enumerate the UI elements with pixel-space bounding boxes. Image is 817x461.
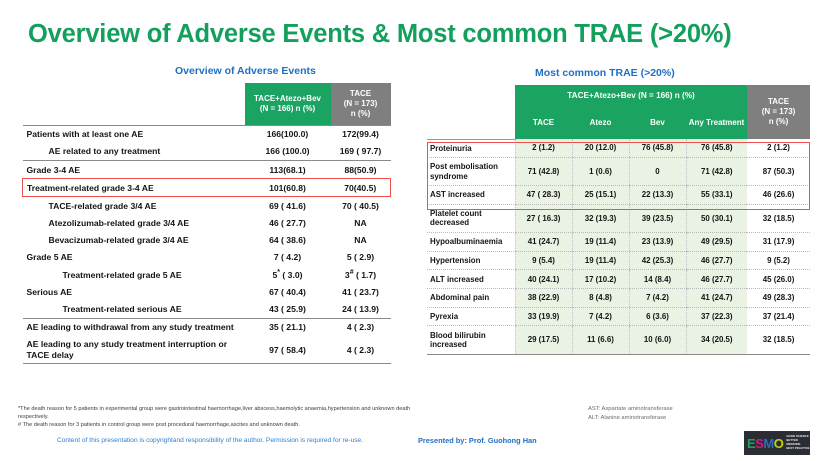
cell-tace: 41 (24.7) [515,232,572,251]
cell-atezo: 20 (12.0) [572,139,629,158]
row-label: Grade 3-4 AE [23,161,245,179]
table-row: Hypertension9 (5.4)19 (11.4)42 (25.3)46 … [427,251,810,270]
table-header: TACE+Atezo+Bev (N = 166) n (%) TACE (N =… [427,85,810,139]
esmo-letter-e: E [747,436,755,451]
cell-tace: 5 ( 2.9) [331,249,391,266]
table-row: Proteinuria2 (1.2)20 (12.0)76 (45.8)76 (… [427,139,810,158]
row-label: Hypoalbuminaemia [427,232,515,251]
table-row: Blood bilirubin increased29 (17.5)11 (6.… [427,326,810,354]
row-label: Post embolisation syndrome [427,158,515,186]
table-row: Patients with at least one AE166(100.0)1… [23,126,391,144]
cell-tace: 3# ( 1.7) [331,266,391,284]
cell-tace: 9 (5.4) [515,251,572,270]
table-row: Atezolizumab-related grade 3/4 AE46 ( 27… [23,214,391,231]
cell-tace-control: 9 (5.2) [747,251,810,270]
cell-bev: 39 (23.5) [629,204,686,232]
section-subtitle-left: Overview of Adverse Events [175,65,316,77]
cell-tace: 172(99.4) [331,126,391,144]
row-label: Pyrexia [427,307,515,326]
overview-adverse-events-table-container: TACE+Atezo+Bev (N = 166) n (%) TACE (N =… [22,83,390,364]
table-header: TACE+Atezo+Bev (N = 166) n (%) TACE (N =… [23,83,391,126]
header-sub-atezo: Atezo [572,107,629,139]
cell-tace-control: 32 (18.5) [747,326,810,354]
esmo-letter-m: M [763,436,773,451]
cell-atezo: 32 (19.3) [572,204,629,232]
header-line-2: (N = 173) [333,99,389,109]
cell-tace-control: 2 (1.2) [747,139,810,158]
footnote-hash: # The death reason for 3 patients in con… [18,421,418,429]
header-line-3: n (%) [748,117,809,127]
cell-any-treatment: 46 (27.7) [686,251,747,270]
table-row: Treatment-related serious AE43 ( 25.9)24… [23,301,391,319]
esmo-tagline: GOOD SCIENCE BETTER MEDICINE BEST PRACTI… [786,435,810,451]
table-row: Treatment-related grade 5 AE5* ( 3.0)3# … [23,266,391,284]
table-body: Proteinuria2 (1.2)20 (12.0)76 (45.8)76 (… [427,139,810,354]
cell-tace-atezo-bev: 7 ( 4.2) [245,249,331,266]
table-row: Post embolisation syndrome71 (42.8)1 (0.… [427,158,810,186]
cell-atezo: 11 (6.6) [572,326,629,354]
row-label: Blood bilirubin increased [427,326,515,354]
cell-bev: 42 (25.3) [629,251,686,270]
header-tace: TACE (N = 173) n (%) [747,85,810,139]
esmo-logo: ESMO GOOD SCIENCE BETTER MEDICINE BEST P… [744,431,810,455]
header-group-tace-atezo-bev: TACE+Atezo+Bev (N = 166) n (%) [515,85,747,107]
cell-tace: 27 ( 16.3) [515,204,572,232]
row-label: Treatment-related grade 5 AE [23,266,245,284]
cell-atezo: 8 (4.8) [572,289,629,308]
cell-tace-control: 46 (26.6) [747,186,810,205]
cell-bev: 14 (8.4) [629,270,686,289]
presented-by-label: Presented by: Prof. Guohong Han [418,436,537,445]
cell-tace: 70 ( 40.5) [331,197,391,215]
esmo-wordmark: ESMO [747,437,783,450]
table-row: ALT increased40 (24.1)17 (10.2)14 (8.4)4… [427,270,810,289]
table-row: Abdominal pain38 (22.9)8 (4.8)7 (4.2)41 … [427,289,810,308]
cell-tace: 24 ( 13.9) [331,301,391,319]
row-label: Platelet count decreased [427,204,515,232]
row-label: TACE-related grade 3/4 AE [23,197,245,215]
cell-tace-atezo-bev: 97 ( 58.4) [245,336,331,364]
row-label: Grade 5 AE [23,249,245,266]
row-label: Atezolizumab-related grade 3/4 AE [23,214,245,231]
cell-bev: 22 (13.3) [629,186,686,205]
row-label: AE leading to withdrawal from any study … [23,318,245,336]
cell-tace-atezo-bev: 69 ( 41.6) [245,197,331,215]
cell-atezo: 1 (0.6) [572,158,629,186]
cell-any-treatment: 46 (27.7) [686,270,747,289]
row-label: Abdominal pain [427,289,515,308]
cell-tace-atezo-bev: 101(60.8) [245,179,331,197]
cell-tace: NA [331,214,391,231]
row-label: AE related to any treatment [23,143,245,161]
copyright-notice: Content of this presentation is copyrigh… [57,437,363,444]
cell-tace: 38 (22.9) [515,289,572,308]
cell-tace-atezo-bev: 67 ( 40.4) [245,284,331,301]
cell-any-treatment: 71 (42.8) [686,158,747,186]
cell-bev: 23 (13.9) [629,232,686,251]
cell-tace: 40 (24.1) [515,270,572,289]
row-label: AE leading to any study treatment interr… [23,336,245,364]
cell-any-treatment: 50 (30.1) [686,204,747,232]
most-common-trae-table-container: TACE+Atezo+Bev (N = 166) n (%) TACE (N =… [427,85,810,355]
header-tace: TACE (N = 173) n (%) [331,83,391,126]
row-label: Patients with at least one AE [23,126,245,144]
cell-tace-atezo-bev: 46 ( 27.7) [245,214,331,231]
cell-tace-control: 37 (21.4) [747,307,810,326]
tagline-line-3: BEST PRACTICE [786,447,810,451]
cell-atezo: 17 (10.2) [572,270,629,289]
cell-tace: 4 ( 2.3) [331,318,391,336]
cell-tace-atezo-bev: 113(68.1) [245,161,331,179]
cell-tace: 169 ( 97.7) [331,143,391,161]
esmo-letter-o: O [774,436,784,451]
table-row: Hypoalbuminaemia41 (24.7)19 (11.4)23 (13… [427,232,810,251]
header-sub-any-treatment: Any Treatment [686,107,747,139]
cell-tace-atezo-bev: 35 ( 21.1) [245,318,331,336]
row-label: Serious AE [23,284,245,301]
cell-tace-control: 32 (18.5) [747,204,810,232]
overview-adverse-events-table: TACE+Atezo+Bev (N = 166) n (%) TACE (N =… [22,83,391,364]
cell-any-treatment: 76 (45.8) [686,139,747,158]
cell-tace-atezo-bev: 64 ( 38.6) [245,232,331,249]
row-label: Treatment-related grade 3-4 AE [23,179,245,197]
cell-bev: 7 (4.2) [629,289,686,308]
row-label: Proteinuria [427,139,515,158]
cell-tace: 41 ( 23.7) [331,284,391,301]
header-line-1: TACE [748,97,809,107]
cell-tace-atezo-bev: 5* ( 3.0) [245,266,331,284]
cell-any-treatment: 41 (24.7) [686,289,747,308]
header-line-1: TACE [333,89,389,99]
cell-tace: NA [331,232,391,249]
cell-tace: 70(40.5) [331,179,391,197]
table-row: TACE-related grade 3/4 AE69 ( 41.6)70 ( … [23,197,391,215]
cell-tace-control: 31 (17.9) [747,232,810,251]
table-body: Patients with at least one AE166(100.0)1… [23,126,391,364]
cell-any-treatment: 37 (22.3) [686,307,747,326]
header-line-3: n (%) [333,109,389,119]
header-line-2: (N = 173) [748,107,809,117]
table-row: Grade 3-4 AE113(68.1)88(50.9) [23,161,391,179]
cell-atezo: 7 (4.2) [572,307,629,326]
cell-any-treatment: 55 (33.1) [686,186,747,205]
row-label: Treatment-related serious AE [23,301,245,319]
cell-tace-atezo-bev: 43 ( 25.9) [245,301,331,319]
row-label: ALT increased [427,270,515,289]
cell-tace-atezo-bev: 166(100.0) [245,126,331,144]
header-sub-tace: TACE [515,107,572,139]
table-row: Platelet count decreased27 ( 16.3)32 (19… [427,204,810,232]
footnote-alt: ALT: Alanine aminotransferase [588,414,788,423]
cell-tace: 47 ( 28.3) [515,186,572,205]
row-label: AST increased [427,186,515,205]
header-blank [427,85,515,139]
section-subtitle-right: Most common TRAE (>20%) [535,67,675,79]
page-title: Overview of Adverse Events & Most common… [28,20,798,49]
cell-bev: 0 [629,158,686,186]
cell-tace: 29 (17.5) [515,326,572,354]
header-blank [23,83,245,126]
table-row: Pyrexia33 (19.9)7 (4.2)6 (3.6)37 (22.3)3… [427,307,810,326]
cell-tace: 33 (19.9) [515,307,572,326]
left-footnotes: *The death reason for 5 patients in expe… [18,405,418,429]
table-row: AE related to any treatment166 (100.0)16… [23,143,391,161]
cell-atezo: 19 (11.4) [572,251,629,270]
footnote-ast: AST: Aspartate aminotransferase [588,405,788,414]
right-footnotes: AST: Aspartate aminotransferase ALT: Ala… [588,405,788,422]
header-sub-bev: Bev [629,107,686,139]
header-line-2: (N = 166) n (%) [247,104,329,114]
cell-tace: 4 ( 2.3) [331,336,391,364]
header-line-1: TACE+Atezo+Bev [247,94,329,104]
cell-tace-atezo-bev: 166 (100.0) [245,143,331,161]
cell-bev: 6 (3.6) [629,307,686,326]
cell-atezo: 19 (11.4) [572,232,629,251]
table-row: AE leading to any study treatment interr… [23,336,391,364]
table-row: Serious AE67 ( 40.4)41 ( 23.7) [23,284,391,301]
row-label: Hypertension [427,251,515,270]
most-common-trae-table: TACE+Atezo+Bev (N = 166) n (%) TACE (N =… [427,85,810,355]
cell-tace-control: 49 (28.3) [747,289,810,308]
table-row: Treatment-related grade 3-4 AE101(60.8)7… [23,179,391,197]
cell-atezo: 25 (15.1) [572,186,629,205]
header-tace-atezo-bev: TACE+Atezo+Bev (N = 166) n (%) [245,83,331,126]
cell-tace: 2 (1.2) [515,139,572,158]
cell-bev: 76 (45.8) [629,139,686,158]
cell-tace: 88(50.9) [331,161,391,179]
cell-bev: 10 (6.0) [629,326,686,354]
cell-tace: 71 (42.8) [515,158,572,186]
cell-any-treatment: 49 (29.5) [686,232,747,251]
table-row: AST increased47 ( 28.3)25 (15.1)22 (13.3… [427,186,810,205]
table-row: AE leading to withdrawal from any study … [23,318,391,336]
table-row: Bevacizumab-related grade 3/4 AE64 ( 38.… [23,232,391,249]
row-label: Bevacizumab-related grade 3/4 AE [23,232,245,249]
footnote-asterisk: *The death reason for 5 patients in expe… [18,405,418,421]
cell-tace-control: 45 (26.0) [747,270,810,289]
cell-any-treatment: 34 (20.5) [686,326,747,354]
cell-tace-control: 87 (50.3) [747,158,810,186]
table-row: Grade 5 AE7 ( 4.2)5 ( 2.9) [23,249,391,266]
